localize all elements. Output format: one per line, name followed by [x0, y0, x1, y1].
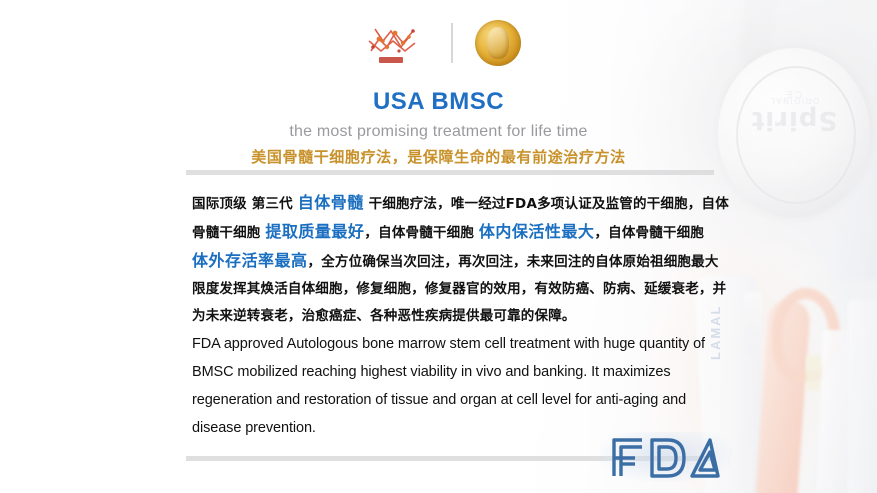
page-title: USA BMSC: [0, 88, 877, 116]
nobel-medal-icon: [475, 20, 521, 66]
text-run: 干细胞疗法，唯一经过FDA多项认证及监管的干细胞，自体: [364, 196, 729, 212]
chinese-text-line: 体外存活率最高，全方位确保当次回注，再次回注，未来回注的自体原始祖细胞最大: [192, 247, 712, 276]
highlighted-phrase: 体外存活率最高: [192, 251, 308, 270]
text-run: ，自体骨髓干细胞: [594, 225, 704, 241]
molecular-logo-icon: [357, 17, 429, 69]
highlighted-phrase: 自体骨髓: [298, 193, 364, 212]
text-run: 国际顶级 第三代: [192, 196, 298, 212]
highlighted-phrase: 提取质量最好: [265, 222, 364, 241]
nobel-medal-portrait: [487, 27, 509, 59]
panel-top-rule: [186, 170, 714, 175]
slide-root: C E ORIGINAL Spirit LAMAL: [0, 0, 877, 493]
page-chinese-tagline: 美国骨髓干细胞疗法，是保障生命的最有前途治疗方法: [0, 147, 877, 167]
fda-logo: [600, 432, 732, 482]
text-run: 限度发挥其焕活自体细胞，修复细胞，修复器官的效用，有效防癌、防病、延缓衰老，并: [192, 281, 726, 297]
panel-body: 国际顶级 第三代 自体骨髓 干细胞疗法，唯一经过FDA多项认证及监管的干细胞，自…: [186, 175, 714, 452]
text-run: 骨髓干细胞: [192, 225, 265, 241]
fda-logo-icon: [608, 434, 728, 480]
highlighted-phrase: 体内保活性最大: [479, 222, 595, 241]
page-subtitle: the most promising treatment for life ti…: [0, 122, 877, 142]
text-run: 为未来逆转衰老，治愈癌症、各种恶性疾病提供最可靠的保障。: [192, 308, 576, 324]
text-run: ，全方位确保当次回注，再次回注，未来回注的自体原始祖细胞最大: [308, 254, 719, 270]
text-run: ，自体骨髓干细胞: [364, 225, 479, 241]
english-text-line: regeneration and restoration of tissue a…: [192, 386, 712, 414]
logo-row: [0, 14, 877, 72]
chinese-text-line: 国际顶级 第三代 自体骨髓 干细胞疗法，唯一经过FDA多项认证及监管的干细胞，自…: [192, 189, 712, 218]
english-paragraph: FDA approved Autologous bone marrow stem…: [192, 330, 712, 442]
english-text-line: BMSC mobilized reaching highest viabilit…: [192, 358, 712, 386]
chinese-paragraph: 国际顶级 第三代 自体骨髓 干细胞疗法，唯一经过FDA多项认证及监管的干细胞，自…: [192, 189, 712, 330]
heading-block: USA BMSC the most promising treatment fo…: [0, 88, 877, 167]
english-text-line: FDA approved Autologous bone marrow stem…: [192, 330, 712, 358]
chinese-text-line: 骨髓干细胞 提取质量最好，自体骨髓干细胞 体内保活性最大，自体骨髓干细胞: [192, 218, 712, 247]
chinese-text-line: 限度发挥其焕活自体细胞，修复细胞，修复器官的效用，有效防癌、防病、延缓衰老，并: [192, 276, 712, 303]
content-panel: 国际顶级 第三代 自体骨髓 干细胞疗法，唯一经过FDA多项认证及监管的干细胞，自…: [186, 170, 714, 461]
logo-divider: [451, 23, 453, 63]
chinese-text-line: 为未来逆转衰老，治愈癌症、各种恶性疾病提供最可靠的保障。: [192, 303, 712, 330]
